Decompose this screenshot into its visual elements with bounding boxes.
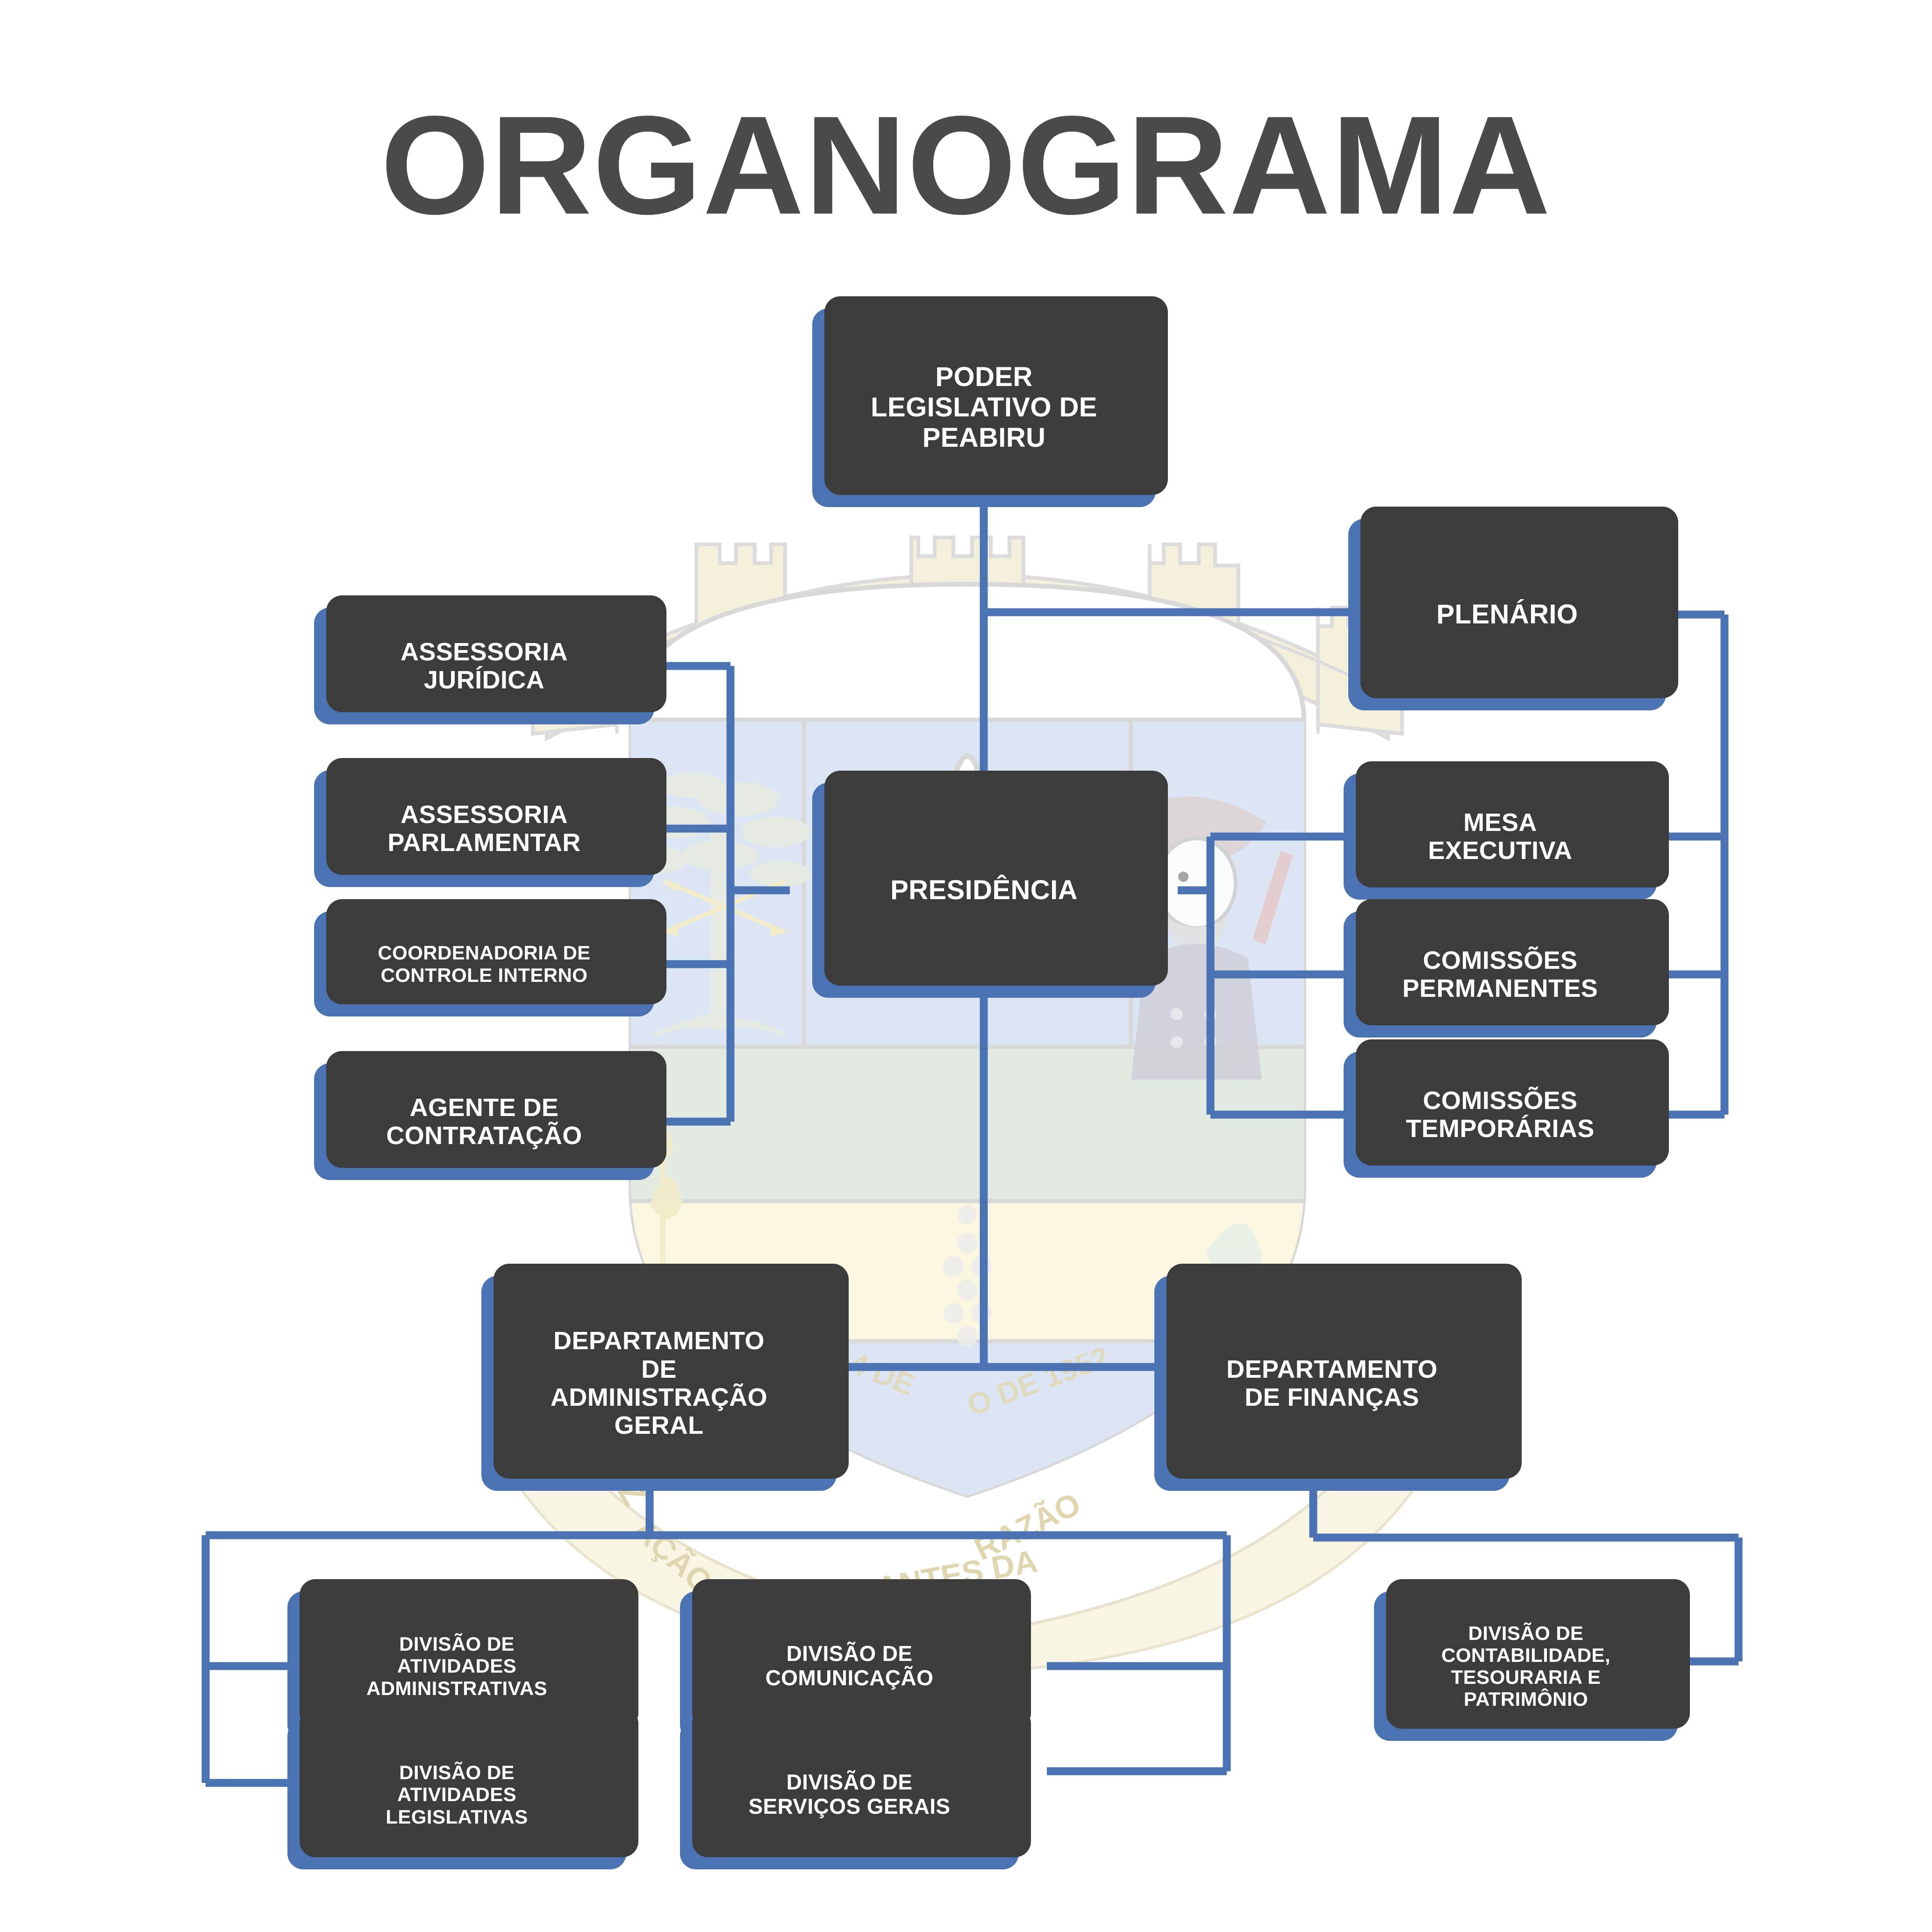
- node-assessoria-juridica[interactable]: ASSESSORIA JURÍDICA: [314, 608, 654, 724]
- node-divisao-servicos-gerais[interactable]: DIVISÃO DE SERVIÇOS GERAIS: [680, 1720, 1019, 1869]
- svg-text:O DE 1952: O DE 1952: [963, 1340, 1113, 1422]
- node-comissoes-permanentes[interactable]: COMISSÕES PERMANENTES: [1344, 911, 1657, 1038]
- node-departamento-administracao-geral[interactable]: DEPARTAMENTO DE ADMINISTRAÇÃO GERAL: [481, 1276, 837, 1491]
- node-mesa-executiva[interactable]: MESA EXECUTIVA: [1344, 773, 1657, 900]
- node-agente-de-contratacao[interactable]: AGENTE DE CONTRATAÇÃO: [314, 1063, 654, 1180]
- node-divisao-atividades-legislativas[interactable]: DIVISÃO DE ATIVIDADES LEGISLATIVAS: [287, 1720, 626, 1869]
- page-title: ORGANOGRAMA: [0, 84, 1932, 246]
- node-comissoes-temporarias[interactable]: COMISSÕES TEMPORÁRIAS: [1344, 1052, 1657, 1178]
- node-departamento-financas[interactable]: DEPARTAMENTO DE FINANÇAS: [1154, 1276, 1510, 1491]
- node-coordenadoria-controle-interno[interactable]: COORDENADORIA DE CONTROLE INTERNO: [314, 911, 654, 1016]
- node-divisao-contabilidade-tesouraria-patrimonio[interactable]: DIVISÃO DE CONTABILIDADE, TESOURARIA E P…: [1374, 1591, 1678, 1741]
- organogram-canvas: PAZ AÇÃO, AMOR UNIVERSAL RAZÃO GRANTES D…: [0, 0, 1932, 1932]
- node-plenario[interactable]: PLENÁRIO: [1348, 519, 1666, 710]
- svg-text:RAZÃO: RAZÃO: [969, 1486, 1086, 1567]
- node-presidencia[interactable]: PRESIDÊNCIA: [812, 783, 1156, 998]
- node-poder-legislativo[interactable]: PODER LEGISLATIVO DE PEABIRU: [812, 308, 1156, 507]
- node-assessoria-parlamentar[interactable]: ASSESSORIA PARLAMENTAR: [314, 770, 654, 887]
